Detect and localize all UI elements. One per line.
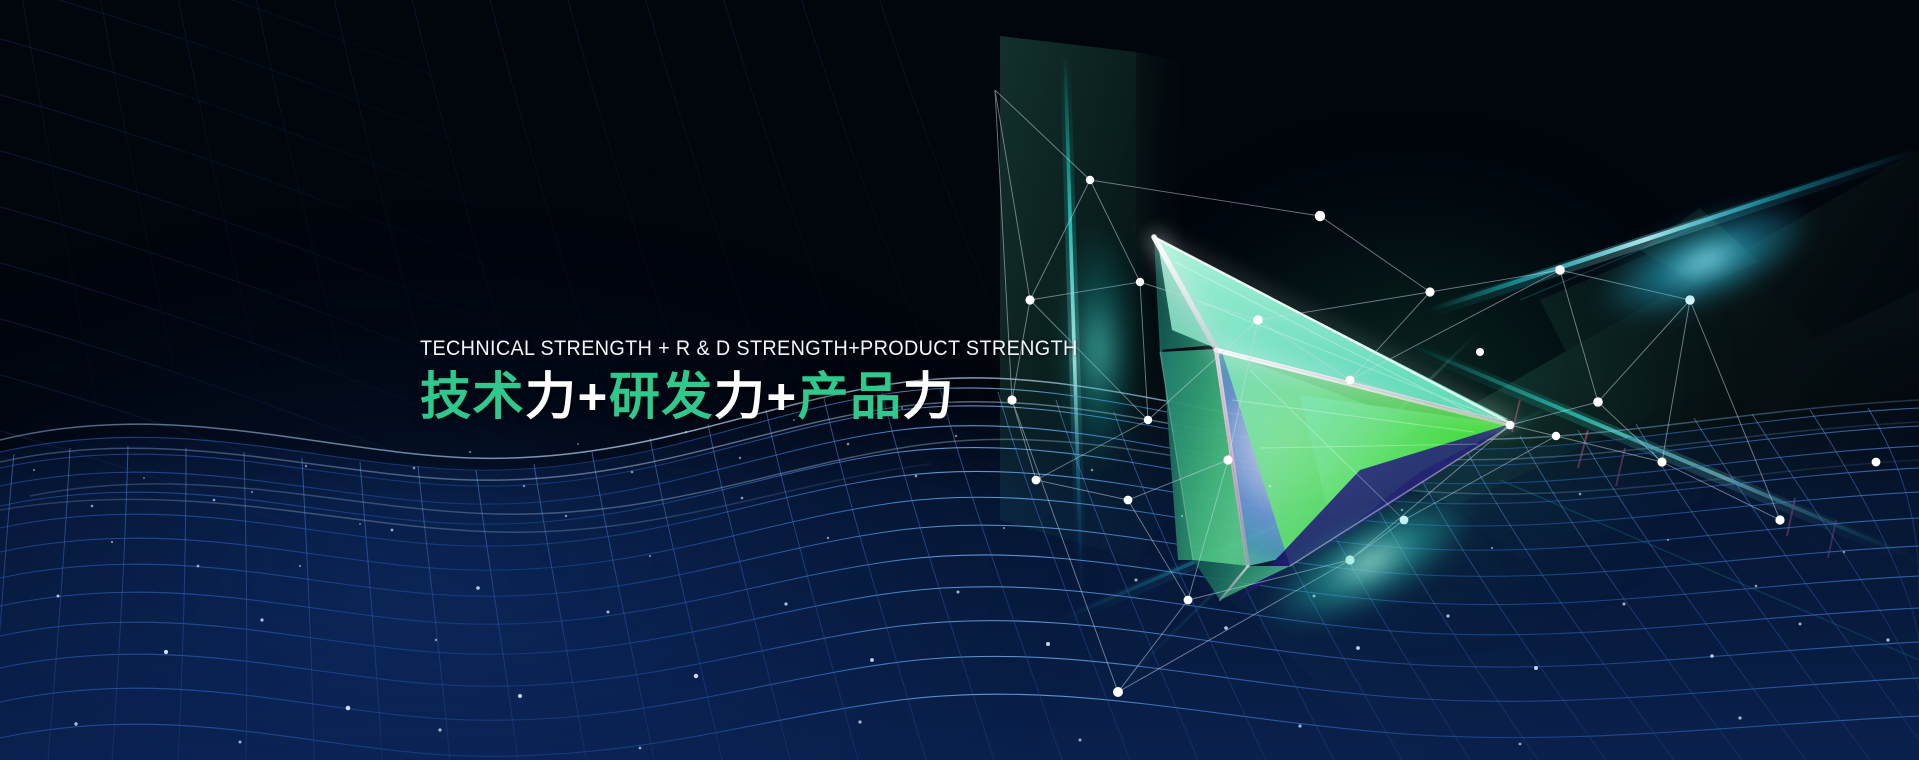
- title-seg-0: 技术: [420, 368, 525, 425]
- title-seg-3: 研发: [609, 368, 714, 425]
- green-haze-glow: [1130, 170, 1690, 600]
- title-seg-5: +: [766, 368, 797, 425]
- tech-banner: TECHNICAL STRENGTH + R & D STRENGTH+PROD…: [0, 0, 1919, 760]
- title-seg-1: 力: [525, 368, 578, 425]
- title-seg-4: 力: [714, 368, 767, 425]
- flare-upper-right: [1582, 178, 1827, 344]
- flare-lower-center: [1249, 471, 1492, 653]
- headline-eyebrow: TECHNICAL STRENGTH + R & D STRENGTH+PROD…: [420, 336, 1119, 361]
- title-seg-7: 力: [903, 368, 956, 425]
- title-seg-2: +: [578, 368, 609, 425]
- title-seg-6: 产品: [798, 368, 903, 425]
- headline-title: 技术力+研发力+产品力: [420, 368, 1180, 425]
- perspective-grid: [0, 0, 1120, 640]
- headline-block: TECHNICAL STRENGTH + R & D STRENGTH+PROD…: [420, 336, 1180, 425]
